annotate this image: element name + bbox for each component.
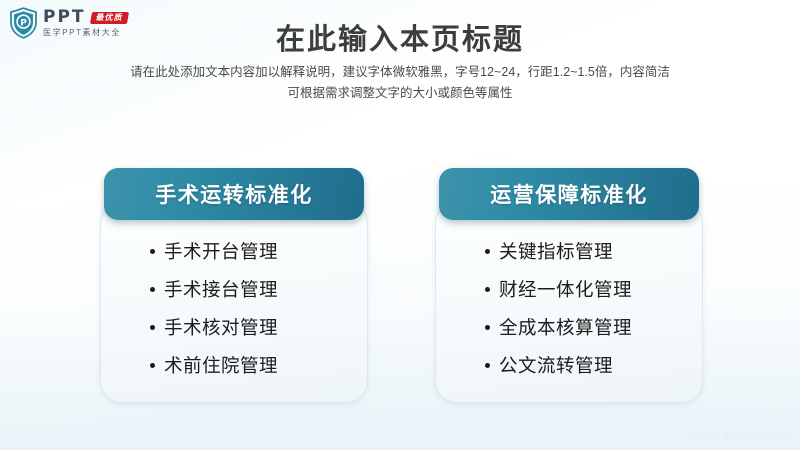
page-subtitle: 请在此处添加文本内容加以解释说明，建议字体微软雅黑，字号12~24，行距1.2~… bbox=[0, 62, 800, 104]
card-right-header-label: 运营保障标准化 bbox=[490, 179, 648, 209]
bullet-icon bbox=[485, 363, 490, 368]
subtitle-line-1: 请在此处添加文本内容加以解释说明，建议字体微软雅黑，字号12~24，行距1.2~… bbox=[0, 62, 800, 83]
list-item[interactable]: 手术开台管理 bbox=[100, 232, 368, 270]
card-right-header[interactable]: 运营保障标准化 bbox=[439, 168, 699, 220]
list-item-label: 术前住院管理 bbox=[164, 352, 278, 378]
card-right-list: 关键指标管理 财经一体化管理 全成本核算管理 公文流转管理 bbox=[435, 232, 703, 384]
page-title: 在此输入本页标题 bbox=[0, 16, 800, 58]
list-item-label: 公文流转管理 bbox=[499, 352, 613, 378]
subtitle-line-2: 可根据需求调整文字的大小或颜色等属性 bbox=[0, 83, 800, 104]
card-left-list: 手术开台管理 手术接台管理 手术核对管理 术前住院管理 bbox=[100, 232, 368, 384]
list-item-label: 手术接台管理 bbox=[164, 276, 278, 302]
list-item[interactable]: 术前住院管理 bbox=[100, 346, 368, 384]
list-item-label: 手术核对管理 bbox=[164, 314, 278, 340]
slide-canvas: P PPT 最优质 医学PPT素材大全 在此输入本页标题 请在此处添加文本内容加… bbox=[0, 0, 800, 450]
list-item[interactable]: 全成本核算管理 bbox=[435, 308, 703, 346]
bullet-icon bbox=[485, 287, 490, 292]
card-left-header-label: 手术运转标准化 bbox=[155, 179, 313, 209]
list-item-label: 手术开台管理 bbox=[164, 238, 278, 264]
bullet-icon bbox=[150, 363, 155, 368]
list-item-label: 全成本核算管理 bbox=[499, 314, 632, 340]
list-item[interactable]: 公文流转管理 bbox=[435, 346, 703, 384]
list-item[interactable]: 手术接台管理 bbox=[100, 270, 368, 308]
list-item[interactable]: 关键指标管理 bbox=[435, 232, 703, 270]
card-left: 手术运转标准化 手术开台管理 手术接台管理 手术核对管理 术前住院管理 bbox=[100, 168, 368, 403]
bullet-icon bbox=[150, 249, 155, 254]
card-right: 运营保障标准化 关键指标管理 财经一体化管理 全成本核算管理 公文流转管理 bbox=[435, 168, 703, 403]
list-item-label: 关键指标管理 bbox=[499, 238, 613, 264]
site-watermark: www.ppter.com bbox=[690, 430, 790, 441]
list-item[interactable]: 财经一体化管理 bbox=[435, 270, 703, 308]
bullet-icon bbox=[485, 325, 490, 330]
card-left-header[interactable]: 手术运转标准化 bbox=[104, 168, 364, 220]
bullet-icon bbox=[485, 249, 490, 254]
list-item-label: 财经一体化管理 bbox=[499, 276, 632, 302]
bullet-icon bbox=[150, 287, 155, 292]
bullet-icon bbox=[150, 325, 155, 330]
list-item[interactable]: 手术核对管理 bbox=[100, 308, 368, 346]
